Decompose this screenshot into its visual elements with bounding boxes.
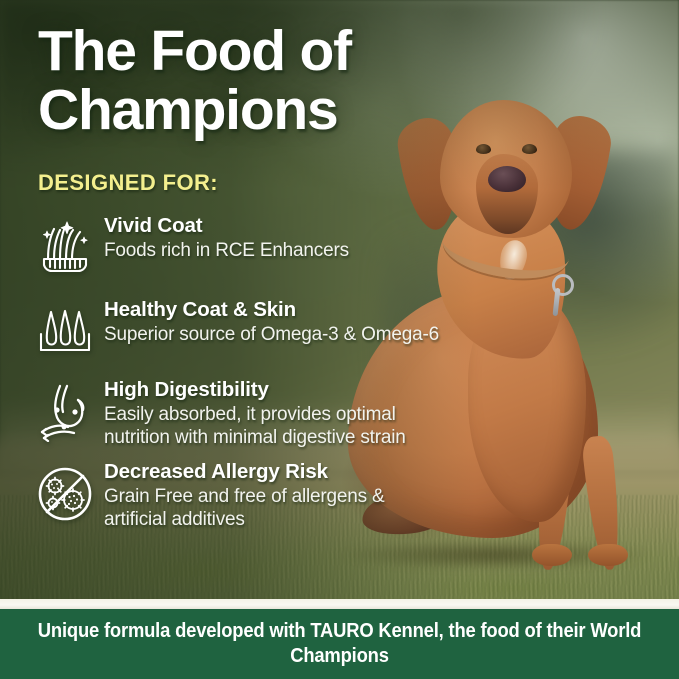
feature-description: Foods rich in RCE Enhancers <box>104 239 349 262</box>
ad-copy-overlay: The Food of Champions DESIGNED FOR: <box>0 0 679 679</box>
feature-title: Decreased Allergy Risk <box>104 460 446 484</box>
feature-text-block: Vivid Coat Foods rich in RCE Enhancers <box>104 212 349 262</box>
product-feature-ad-card: The Food of Champions DESIGNED FOR: <box>0 0 679 679</box>
feature-text-block: Healthy Coat & Skin Superior source of O… <box>104 296 439 346</box>
page-title: The Food of Champions <box>38 22 468 139</box>
stomach-digestion-icon <box>26 376 104 448</box>
footer-banner: Unique formula developed with TAURO Kenn… <box>0 609 679 679</box>
feature-title: High Digestibility <box>104 378 446 402</box>
feature-description: Easily absorbed, it provides optimal nut… <box>104 403 446 449</box>
hair-strands-sparkle-icon <box>26 212 104 284</box>
footer-text: Unique formula developed with TAURO Kenn… <box>27 619 652 669</box>
designed-for-label: DESIGNED FOR: <box>38 170 218 196</box>
no-allergens-icon <box>26 458 104 530</box>
list-item: High Digestibility Easily absorbed, it p… <box>26 376 446 450</box>
feature-title: Vivid Coat <box>104 214 349 238</box>
feature-description: Grain Free and free of allergens & artif… <box>104 485 446 531</box>
feature-description: Superior source of Omega-3 & Omega-6 <box>104 323 439 346</box>
list-item: Decreased Allergy Risk Grain Free and fr… <box>26 458 446 532</box>
feature-list: Vivid Coat Foods rich in RCE Enhancers <box>26 212 446 541</box>
hair-follicles-skin-icon <box>26 296 104 368</box>
list-item: Healthy Coat & Skin Superior source of O… <box>26 296 446 368</box>
feature-title: Healthy Coat & Skin <box>104 298 439 322</box>
list-item: Vivid Coat Foods rich in RCE Enhancers <box>26 212 446 284</box>
feature-text-block: High Digestibility Easily absorbed, it p… <box>104 376 446 450</box>
footer-divider-strip <box>0 599 679 609</box>
feature-text-block: Decreased Allergy Risk Grain Free and fr… <box>104 458 446 532</box>
